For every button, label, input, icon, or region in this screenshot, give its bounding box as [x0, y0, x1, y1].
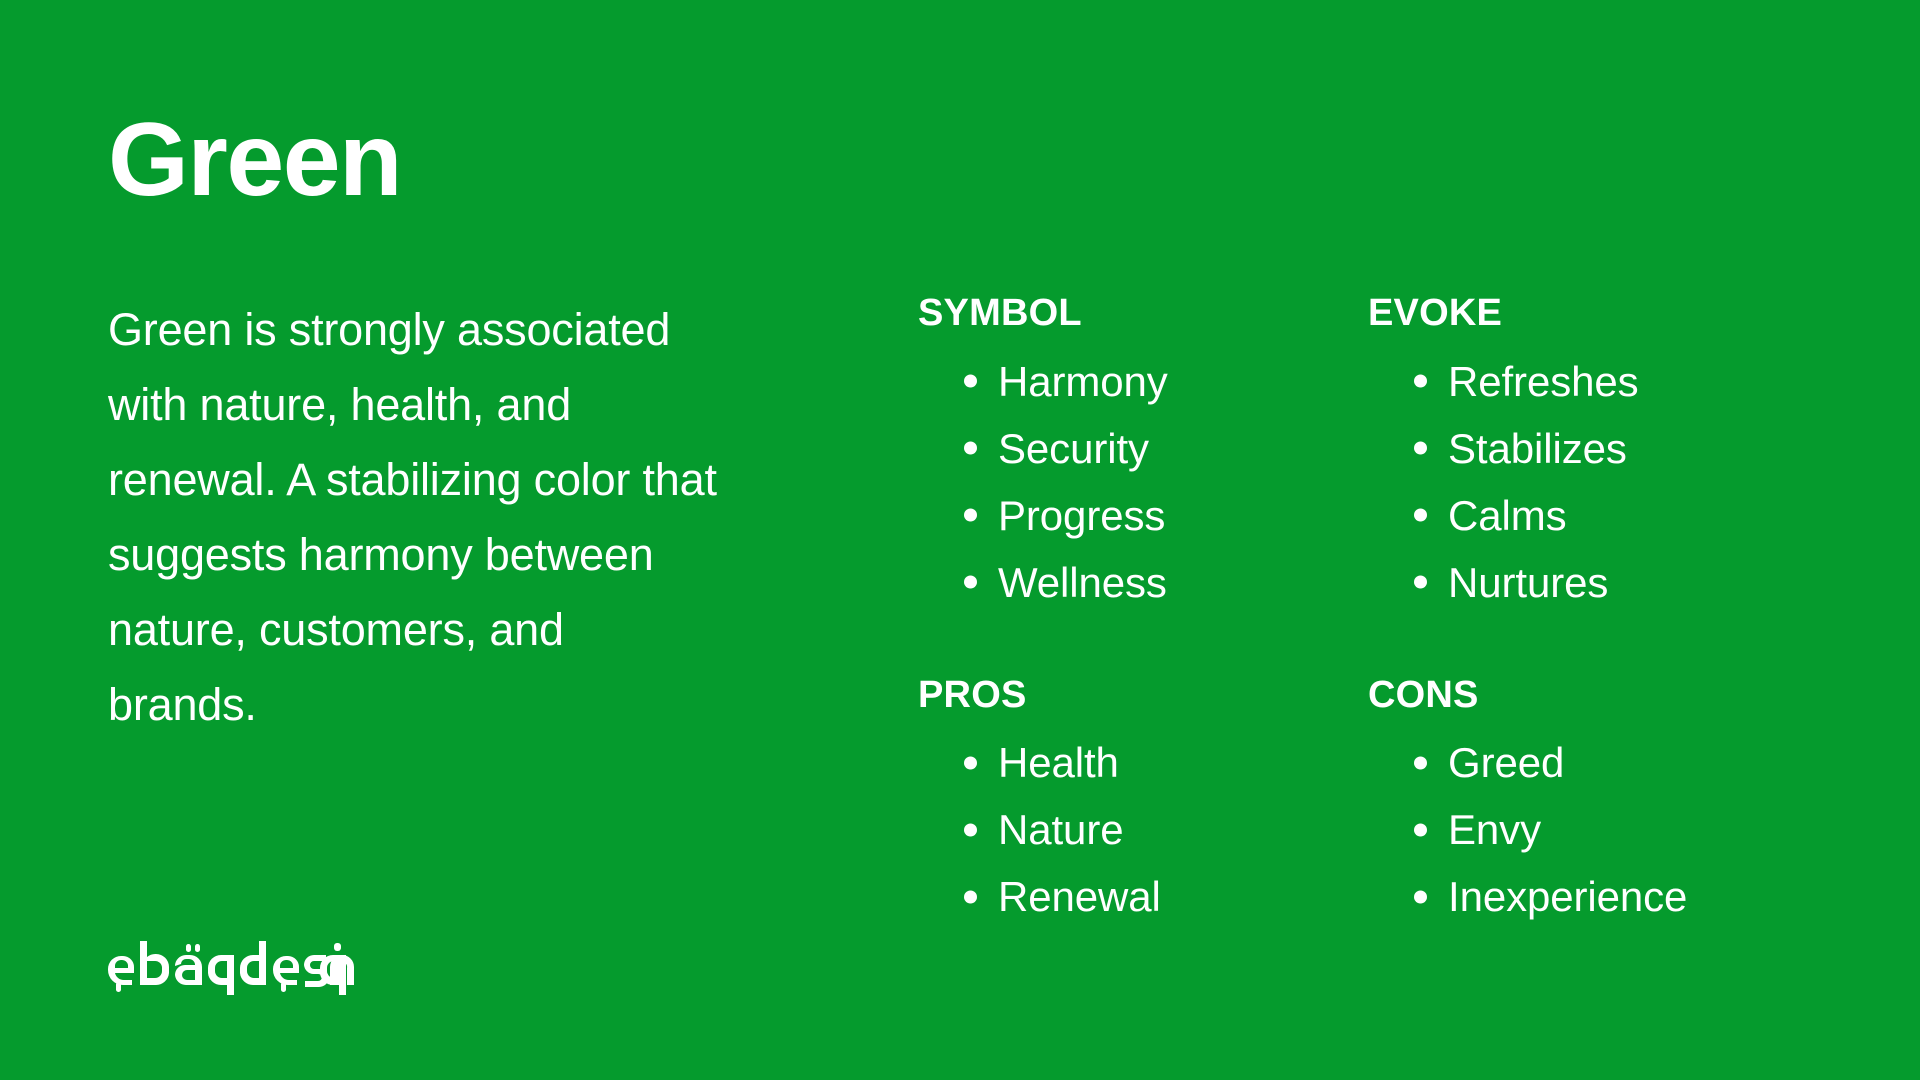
list-item: Calms [1368, 482, 1838, 549]
list-item-label: Wellness [998, 559, 1167, 606]
bullet-icon [964, 890, 977, 903]
bullet-icon [964, 756, 977, 769]
list-item: Wellness [918, 549, 1368, 616]
bullet-icon [964, 442, 977, 455]
list-item: Progress [918, 482, 1368, 549]
bullet-icon [1414, 823, 1427, 836]
column-heading-evoke: EVOKE [1368, 292, 1838, 336]
column-cons: CONS Greed Envy Inexperience [1368, 674, 1838, 931]
list-item: Nurtures [1368, 549, 1838, 616]
bullet-icon [964, 509, 977, 522]
list-item: Stabilizes [1368, 415, 1838, 482]
bullet-icon [1414, 442, 1427, 455]
attribute-columns: SYMBOL Harmony Security Progress Wellnes… [918, 292, 1838, 930]
list-item-label: Greed [1448, 739, 1564, 786]
list-item: Nature [918, 796, 1368, 863]
list-cons: Greed Envy Inexperience [1368, 729, 1838, 930]
color-card-slide: Green Green is strongly associated with … [0, 0, 1920, 1080]
column-heading-pros: PROS [918, 674, 1368, 718]
list-item: Renewal [918, 863, 1368, 930]
list-item-label: Envy [1448, 806, 1541, 853]
list-item: Greed [1368, 729, 1838, 796]
bullet-icon [964, 375, 977, 388]
bullet-icon [964, 576, 977, 589]
column-heading-symbol: SYMBOL [918, 292, 1368, 336]
list-item: Inexperience [1368, 863, 1838, 930]
ebaqdesign-logo[interactable] [108, 940, 354, 996]
list-item-label: Health [998, 739, 1119, 786]
bullet-icon [1414, 890, 1427, 903]
ebaqdesign-wordmark-icon [108, 941, 354, 995]
list-item: Envy [1368, 796, 1838, 863]
list-item: Security [918, 415, 1368, 482]
list-item-label: Refreshes [1448, 358, 1639, 405]
list-evoke: Refreshes Stabilizes Calms Nurtures [1368, 348, 1838, 616]
column-heading-cons: CONS [1368, 674, 1838, 718]
column-pros: PROS Health Nature Renewal [918, 674, 1368, 931]
bullet-icon [1414, 756, 1427, 769]
list-item: Health [918, 729, 1368, 796]
list-item-label: Calms [1448, 492, 1567, 539]
list-item-label: Stabilizes [1448, 425, 1627, 472]
column-symbol: SYMBOL Harmony Security Progress Wellnes… [918, 292, 1368, 616]
list-item-label: Inexperience [1448, 873, 1687, 920]
page-title: Green [108, 108, 401, 212]
list-item-label: Progress [998, 492, 1165, 539]
list-item: Refreshes [1368, 348, 1838, 415]
bullet-icon [964, 823, 977, 836]
list-item: Harmony [918, 348, 1368, 415]
list-item-label: Renewal [998, 873, 1161, 920]
list-item-label: Nature [998, 806, 1123, 853]
bullet-icon [1414, 375, 1427, 388]
list-pros: Health Nature Renewal [918, 729, 1368, 930]
list-symbol: Harmony Security Progress Wellness [918, 348, 1368, 616]
bullet-icon [1414, 509, 1427, 522]
bullet-icon [1414, 576, 1427, 589]
list-item-label: Harmony [998, 358, 1168, 405]
column-evoke: EVOKE Refreshes Stabilizes Calms Nurture… [1368, 292, 1838, 616]
list-item-label: Nurtures [1448, 559, 1608, 606]
color-description: Green is strongly associated with nature… [108, 292, 718, 742]
list-item-label: Security [998, 425, 1149, 472]
